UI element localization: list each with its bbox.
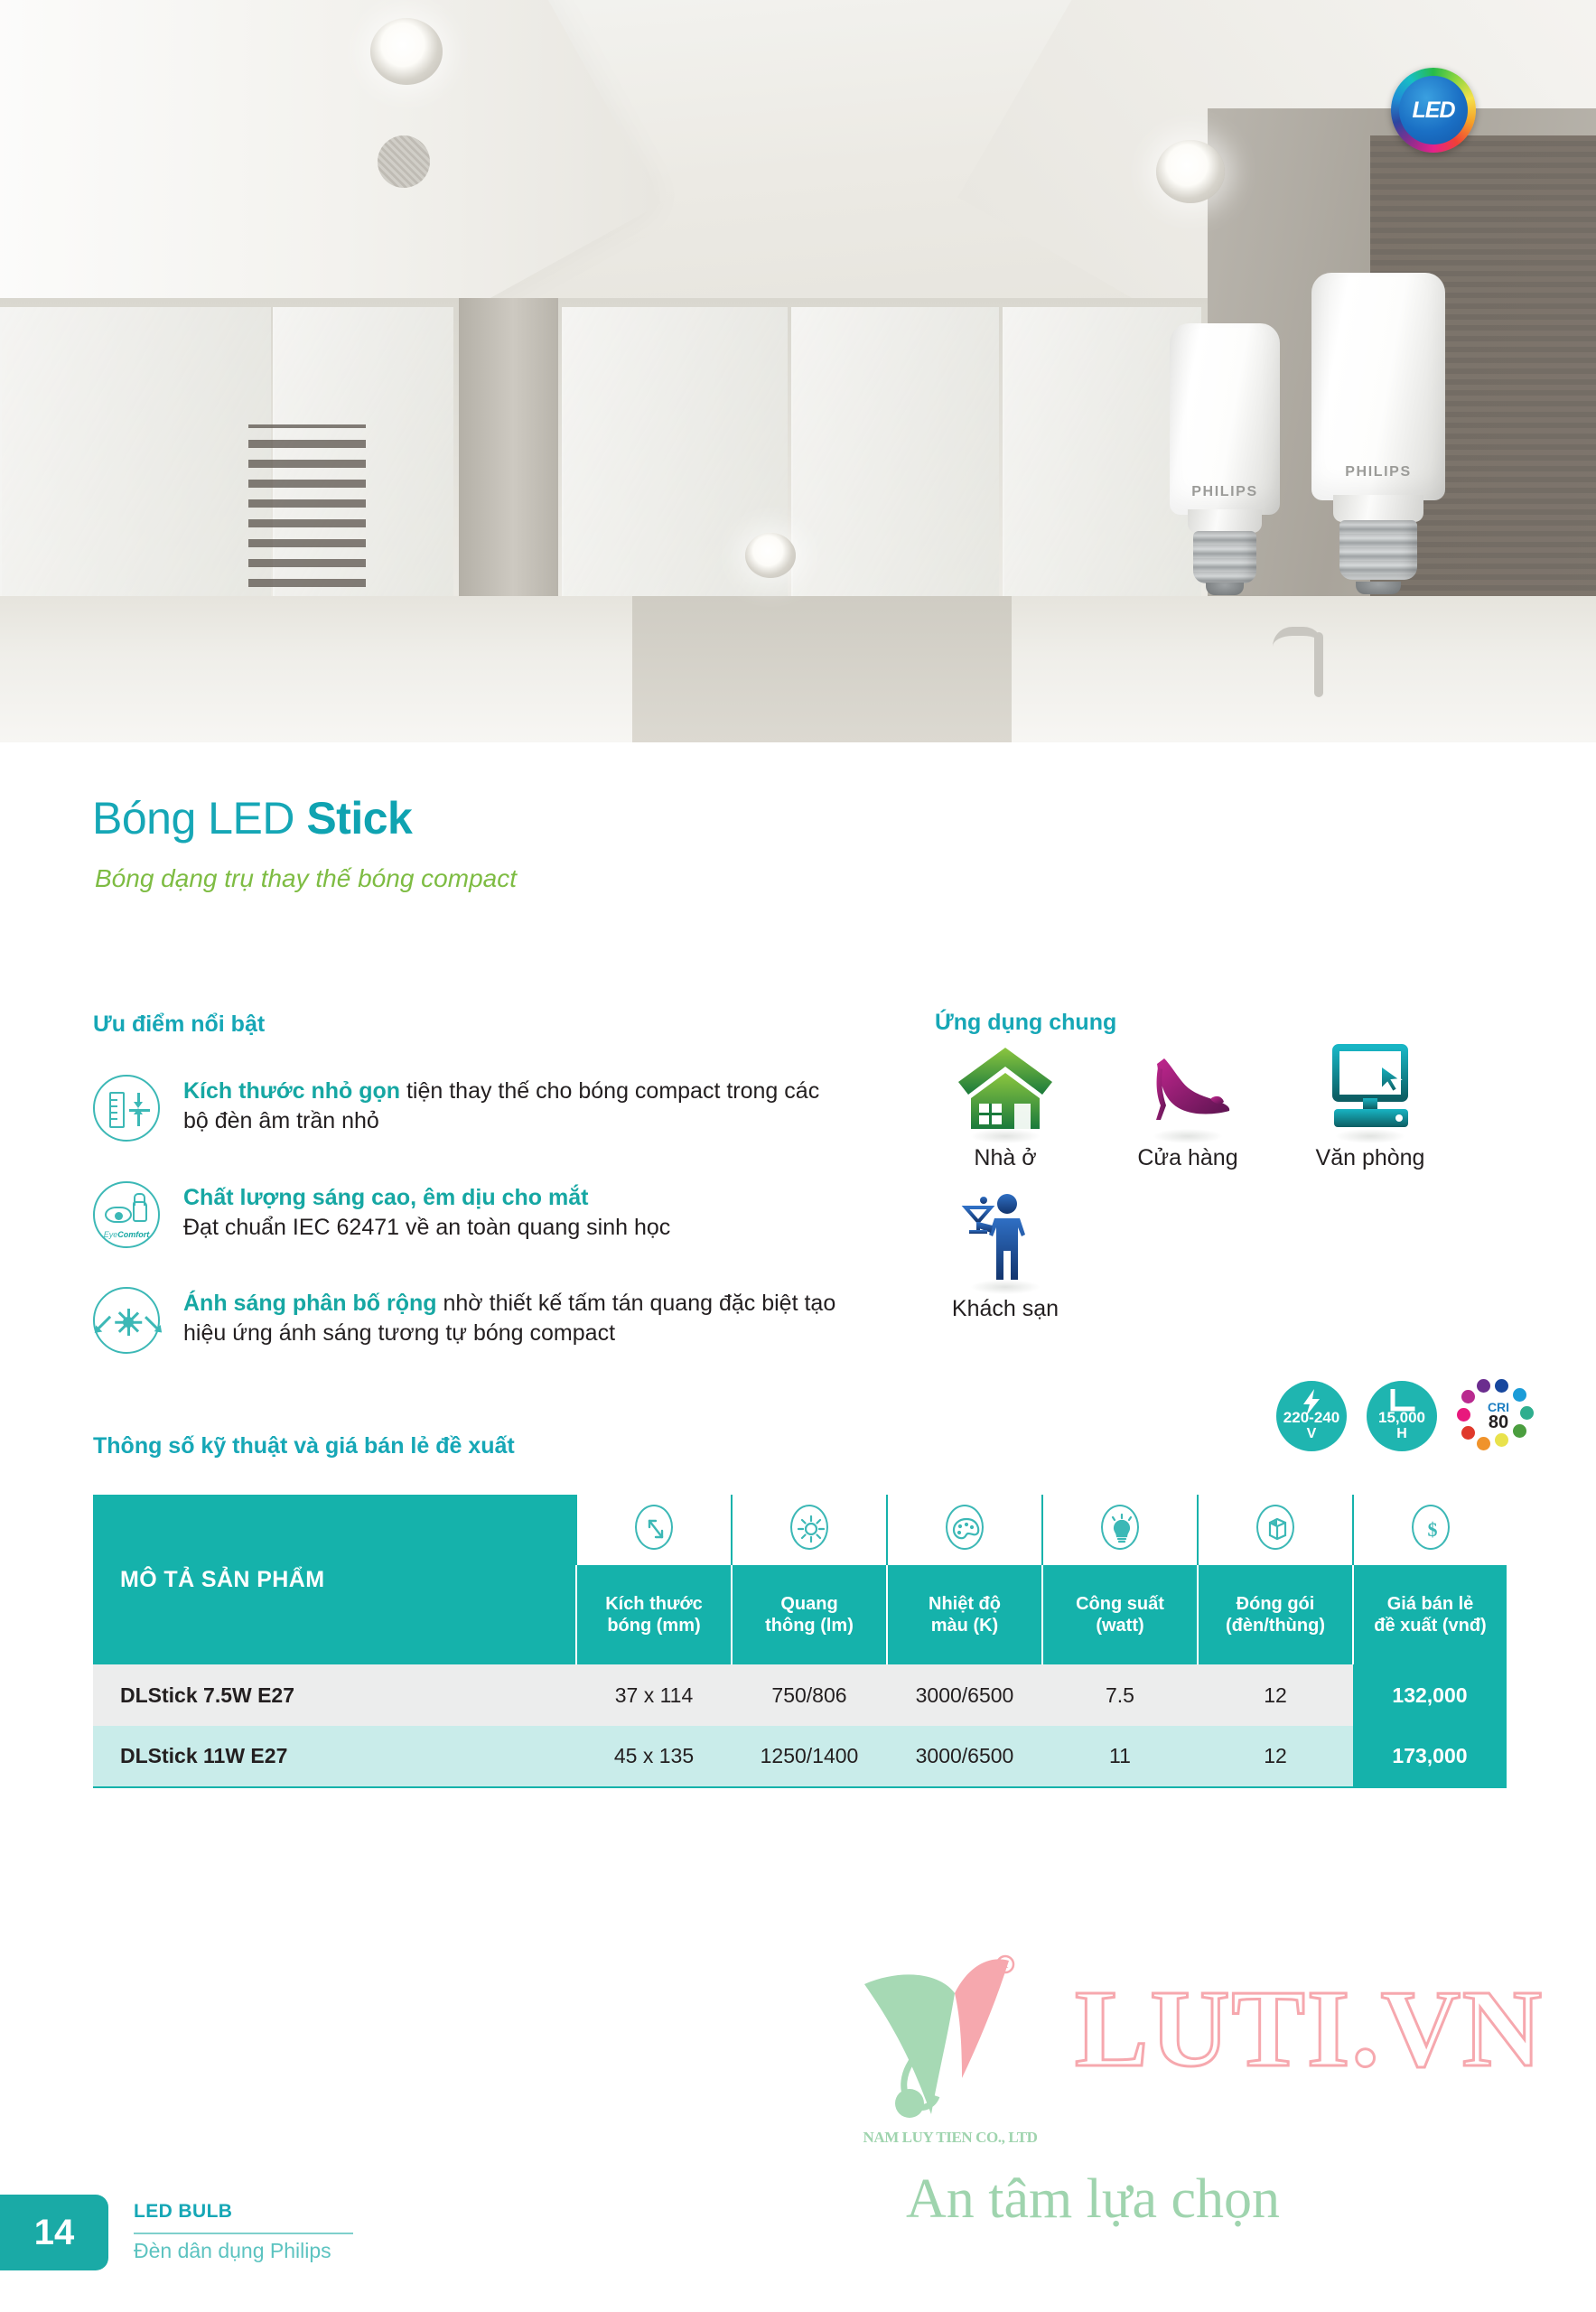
col-header-lumen: Quangthông (lm) — [732, 1565, 887, 1664]
price-dollar-icon: $ — [1353, 1495, 1507, 1565]
features-heading: Ưu điểm nổi bật — [93, 1011, 265, 1038]
bulb-neck — [1333, 495, 1424, 522]
feature-text: Chất lượng sáng cao, êm dịu cho mắt Đạt … — [183, 1181, 670, 1248]
watermark-company: NAM LUY TIEN CO., LTD — [846, 2129, 1054, 2147]
page-subtitle: Bóng dạng trụ thay thế bóng compact — [95, 864, 517, 893]
application-label: Khách sạn — [952, 1296, 1059, 1322]
feature-text: Kích thước nhỏ gọn tiện thay thế cho bón… — [183, 1075, 843, 1142]
downlight-icon — [745, 533, 796, 578]
cell-size: 45 x 135 — [576, 1726, 732, 1787]
mirror-panel — [0, 307, 271, 623]
waiter-icon — [951, 1191, 1059, 1292]
cell-cct: 3000/6500 — [887, 1664, 1042, 1726]
eyecomfort-label: EyeComfort — [95, 1230, 158, 1239]
thumbs-up-shape — [133, 1201, 147, 1222]
table-row: DLStick 11W E27 45 x 135 1250/1400 3000/… — [93, 1726, 1507, 1787]
applications-group: Nhà ở Cửa hàng — [935, 1040, 1513, 1322]
page-number-box: 14 — [0, 2195, 108, 2270]
bulb-e27-base — [1193, 531, 1257, 583]
counter-wall-tile — [632, 596, 1012, 742]
svg-text:R: R — [1003, 1961, 1009, 1971]
ruler-shape — [109, 1092, 125, 1128]
spec-badges: 220-240 V 15,000 H CRI 80 — [1276, 1377, 1540, 1455]
clock-icon — [1387, 1389, 1416, 1416]
cell-size: 37 x 114 — [576, 1664, 732, 1726]
application-item-home: Nhà ở — [935, 1040, 1076, 1171]
application-item-office: Văn phòng — [1300, 1040, 1441, 1171]
applications-row-2: Khách sạn — [935, 1191, 1513, 1322]
cell-cct: 3000/6500 — [887, 1726, 1042, 1787]
lifetime-badge: 15,000 H — [1367, 1381, 1437, 1451]
page-title-emphasis: Stick — [306, 793, 412, 844]
cri-color-wheel-icon: CRI 80 — [1457, 1377, 1540, 1455]
col-header-pack: Đóng gói(đèn/thùng) — [1198, 1565, 1353, 1664]
dimensions-icon — [576, 1495, 732, 1565]
feature-item-size: Kích thước nhỏ gọn tiện thay thế cho bón… — [93, 1075, 843, 1142]
bulb-neck — [1188, 509, 1263, 533]
light-spread-icon — [93, 1287, 160, 1354]
ceiling-vent-icon — [378, 135, 430, 188]
product-bulb-large: PHILIPS — [1311, 273, 1445, 584]
feature-text: Ánh sáng phân bố rộng nhờ thiết kế tấm t… — [183, 1287, 843, 1354]
applications-row-1: Nhà ở Cửa hàng — [935, 1040, 1513, 1171]
feature-highlight: Kích thước nhỏ gọn — [183, 1078, 400, 1104]
feature-rest: Đạt chuẩn IEC 62471 về an toàn quang sin… — [183, 1215, 670, 1240]
footer-title: LED BULB — [134, 2201, 232, 2223]
brightness-icon — [732, 1495, 887, 1565]
bulb-power-icon — [1042, 1495, 1198, 1565]
bulb-brand-label: PHILIPS — [1311, 464, 1445, 480]
icon-reflection — [971, 1129, 1040, 1143]
col-header-price: Giá bán lẻđề xuất (vnđ) — [1353, 1565, 1507, 1664]
cri-value: 80 — [1489, 1413, 1508, 1432]
feature-item-spread: Ánh sáng phân bố rộng nhờ thiết kế tấm t… — [93, 1287, 843, 1354]
table-desc-header: MÔ TẢ SẢN PHẨM — [93, 1495, 576, 1664]
cell-price: 173,000 — [1353, 1726, 1507, 1787]
towel-radiator — [248, 424, 366, 587]
hero-photo: LED PHILIPS PHILIPS — [0, 0, 1596, 742]
application-label: Văn phòng — [1316, 1145, 1425, 1171]
watermark-brand: LUTI.VN — [1075, 1966, 1544, 2093]
cell-lumen: 750/806 — [732, 1664, 887, 1726]
cri-label: CRI — [1488, 1401, 1509, 1413]
eyecomfort-icon: EyeComfort — [93, 1181, 160, 1248]
faucet — [1314, 632, 1323, 697]
application-label: Cửa hàng — [1137, 1145, 1237, 1171]
feature-item-quality: EyeComfort Chất lượng sáng cao, êm dịu c… — [93, 1181, 843, 1248]
house-icon — [951, 1040, 1059, 1142]
page-title-prefix: Bóng LED — [92, 793, 306, 844]
bulb-brand-label: PHILIPS — [1170, 484, 1280, 500]
col-header-size: Kích thướcbóng (mm) — [576, 1565, 732, 1664]
eye-shape — [105, 1207, 132, 1223]
specs-table: MÔ TẢ SẢN PHẨM — [93, 1495, 1507, 1788]
product-bulb-small: PHILIPS — [1170, 323, 1280, 585]
icon-reflection — [1153, 1129, 1222, 1143]
applications-heading: Ứng dụng chung — [935, 1010, 1116, 1036]
application-label: Nhà ở — [974, 1145, 1036, 1171]
downlight-icon — [1156, 140, 1225, 203]
bulb-e27-base — [1339, 520, 1417, 580]
cell-pack: 12 — [1198, 1664, 1353, 1726]
application-item-hotel: Khách sạn — [935, 1191, 1076, 1322]
cell-product-name: DLStick 7.5W E27 — [93, 1664, 576, 1726]
led-logo-badge: LED — [1391, 68, 1476, 153]
footer-divider — [134, 2233, 353, 2234]
spread-arrow — [145, 1316, 158, 1329]
lifetime-unit: H — [1396, 1425, 1407, 1443]
cell-watt: 11 — [1042, 1726, 1198, 1787]
size-ruler-icon — [93, 1075, 160, 1142]
voltage-badge: 220-240 V — [1276, 1381, 1347, 1451]
icon-reflection — [1336, 1129, 1405, 1143]
cell-pack: 12 — [1198, 1726, 1353, 1787]
svg-text:$: $ — [1427, 1518, 1437, 1541]
desktop-monitor-icon — [1316, 1040, 1424, 1142]
cell-product-name: DLStick 11W E27 — [93, 1726, 576, 1787]
spread-arrow — [98, 1316, 111, 1329]
table-icon-row: MÔ TẢ SẢN PHẨM — [93, 1495, 1507, 1565]
page-number: 14 — [34, 2213, 75, 2253]
table-row: DLStick 7.5W E27 37 x 114 750/806 3000/6… — [93, 1664, 1507, 1726]
voltage-unit: V — [1307, 1425, 1317, 1443]
footer-subtitle: Đèn dân dụng Philips — [134, 2239, 331, 2263]
cell-lumen: 1250/1400 — [732, 1726, 887, 1787]
feature-highlight: Chất lượng sáng cao, êm dịu cho mắt — [183, 1185, 588, 1210]
mirror-panel — [562, 307, 788, 623]
application-item-shop: Cửa hàng — [1117, 1040, 1258, 1171]
downlight-icon — [370, 18, 443, 85]
bulb-contact-tip — [1206, 583, 1243, 595]
cell-watt: 7.5 — [1042, 1664, 1198, 1726]
cell-price: 132,000 — [1353, 1664, 1507, 1726]
arrow-down-icon — [137, 1093, 140, 1105]
color-palette-icon — [887, 1495, 1042, 1565]
package-box-icon — [1198, 1495, 1353, 1565]
page-title: Bóng LED Stick — [92, 792, 412, 844]
col-header-watt: Công suất(watt) — [1042, 1565, 1198, 1664]
col-header-cct: Nhiệt độmàu (K) — [887, 1565, 1042, 1664]
lightning-bolt-icon — [1300, 1389, 1323, 1416]
feature-highlight: Ánh sáng phân bố rộng — [183, 1291, 437, 1316]
bulb-contact-tip — [1356, 582, 1401, 594]
watermark-tagline: An tâm lựa chọn — [601, 2167, 1585, 2232]
icon-reflection — [971, 1280, 1040, 1294]
led-logo-text: LED — [1399, 76, 1468, 144]
specs-table-heading: Thông số kỹ thuật và giá bán lẻ đề xuất — [93, 1433, 515, 1459]
high-heel-shoe-icon — [1134, 1040, 1242, 1142]
mirror-panel — [791, 307, 999, 623]
arrow-up-icon — [137, 1114, 140, 1126]
